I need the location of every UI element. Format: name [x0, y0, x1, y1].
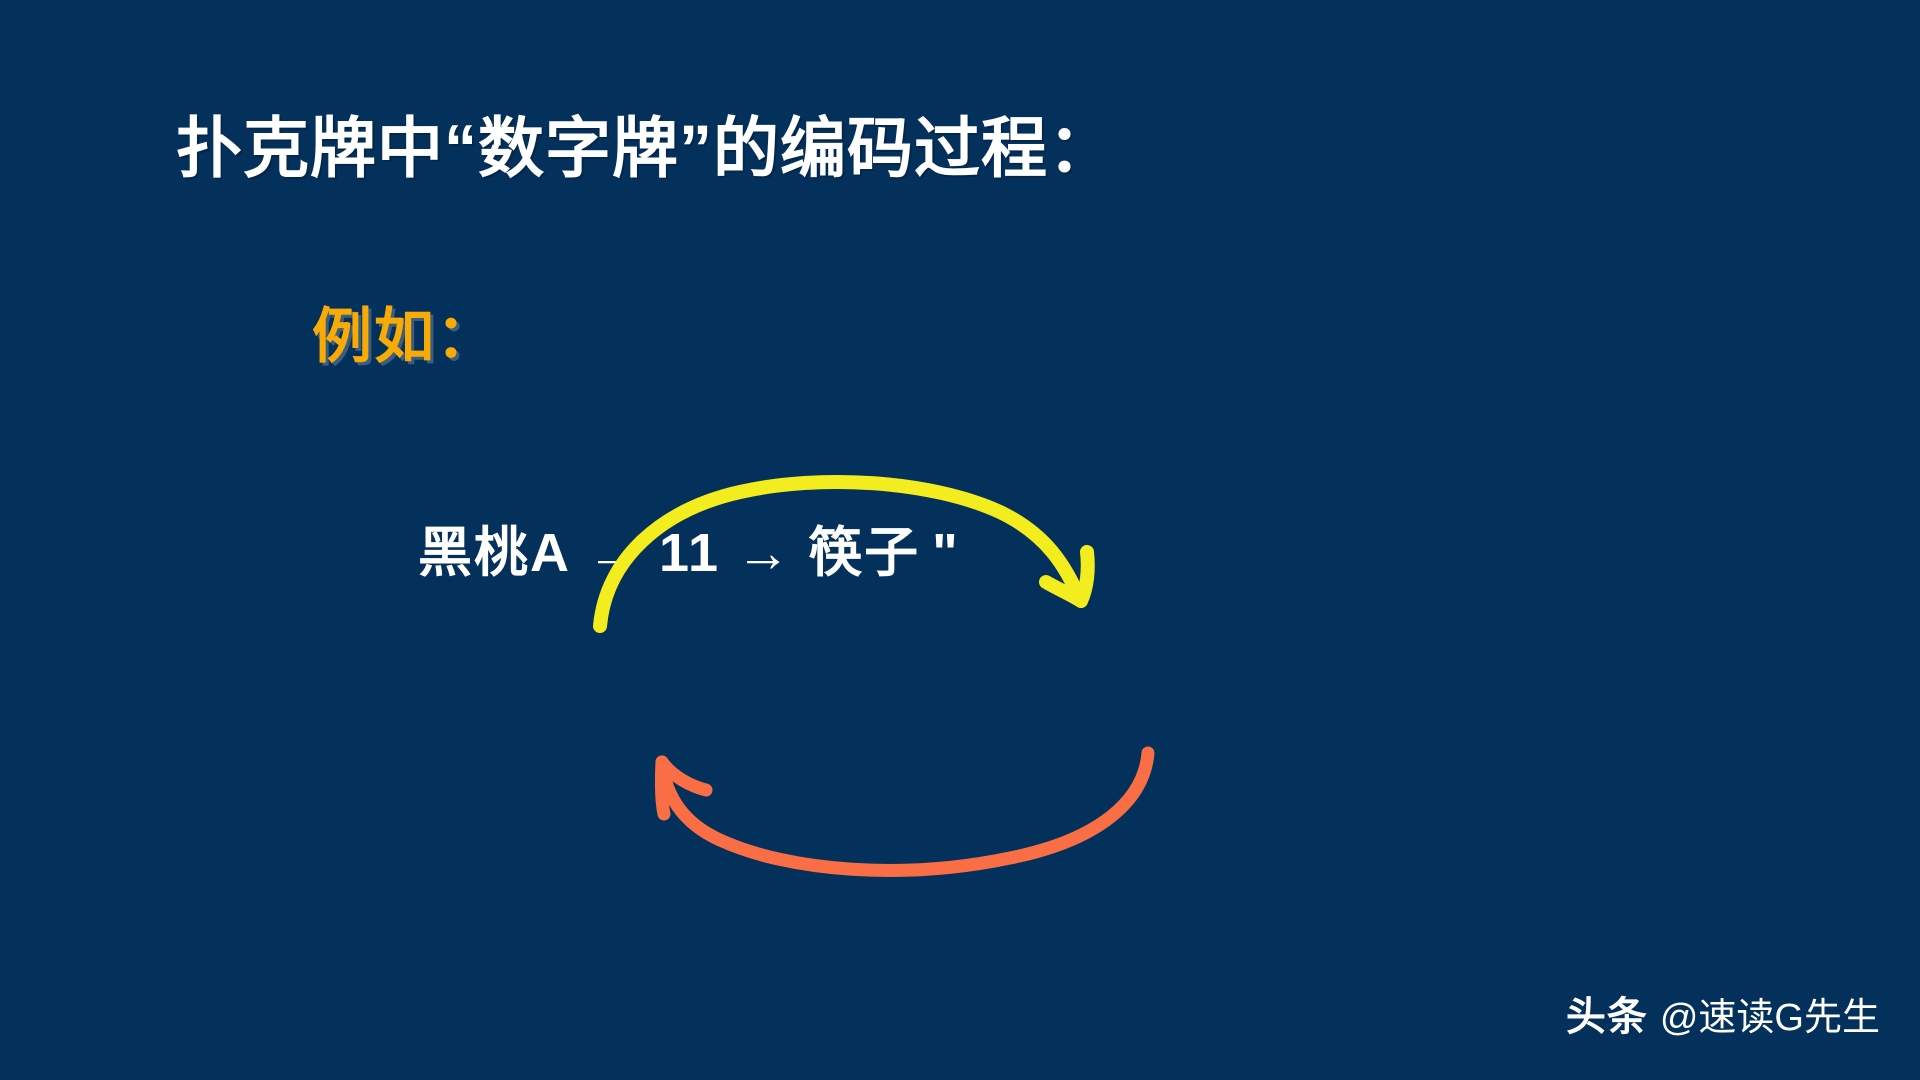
- watermark-handle: @速读G先生: [1660, 986, 1880, 1041]
- watermark-brand: 头条: [1566, 984, 1648, 1042]
- equation-source: 黑桃A: [418, 508, 571, 587]
- equation-arrow-2: →: [720, 523, 808, 583]
- equation-target: 筷子: [808, 508, 920, 587]
- encoding-equation: 黑桃A→11→筷子": [418, 508, 960, 587]
- equation-number: 11: [659, 522, 720, 584]
- example-label: 例如：: [312, 288, 498, 375]
- equation-arrow-1: →: [571, 523, 659, 583]
- watermark: 头条 @速读G先生: [1566, 984, 1880, 1042]
- slide-canvas: 扑克牌中“数字牌”的编码过程： 例如： 黑桃A→11→筷子" 头条 @速读G先生: [0, 0, 1920, 1080]
- equation-trailing-mark: ": [920, 523, 960, 583]
- page-title: 扑克牌中“数字牌”的编码过程：: [176, 108, 1356, 189]
